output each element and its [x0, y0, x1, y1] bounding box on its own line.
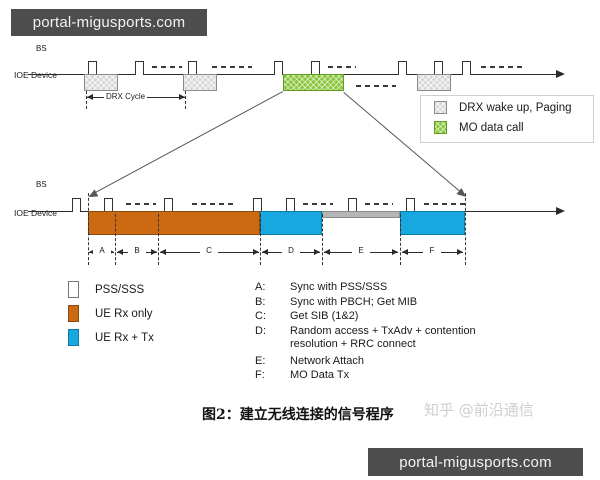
- drx-arrow-right: [179, 94, 185, 100]
- legend-label: DRX wake up, Paging: [459, 102, 572, 114]
- pulse: [462, 61, 471, 75]
- segment-label-a: A: [93, 246, 111, 255]
- pulse: [104, 198, 113, 212]
- swatch-drx-icon: [434, 101, 447, 114]
- dotted-run: [424, 203, 466, 205]
- swatch-pss-sss-icon: [68, 281, 79, 298]
- segment-arrow-right: [392, 249, 398, 255]
- watermark-bottom: portal-migusports.com: [368, 448, 583, 476]
- pulse: [434, 61, 443, 75]
- description-list: A: Sync with PSS/SSS B: Sync with PBCH; …: [255, 281, 515, 384]
- description-row-f: F: MO Data Tx: [255, 369, 515, 383]
- segment-label-f: F: [423, 246, 441, 255]
- bottom-device-label: IOE Device: [14, 208, 57, 218]
- segment-label-c: C: [200, 246, 218, 255]
- description-text: Random access + TxAdv + contention resol…: [290, 325, 515, 352]
- top-device-label: IOE Device: [14, 70, 57, 80]
- segment-divider: [158, 214, 159, 265]
- block-ue-rx-only: [88, 211, 260, 235]
- segment-arrow-left: [160, 249, 166, 255]
- description-text: Network Attach: [290, 355, 364, 369]
- legend-item-mo: MO data call: [434, 121, 524, 134]
- drx-arrow-left: [87, 94, 93, 100]
- pulse: [72, 198, 81, 212]
- pulse: [348, 198, 357, 212]
- bottom-axis-arrow: [556, 207, 565, 215]
- segment-label-b: B: [128, 246, 146, 255]
- description-row-b: B: Sync with PBCH; Get MIB: [255, 296, 515, 310]
- swatch-ue-rx-only-icon: [68, 305, 79, 322]
- block-drx-wake-up: [183, 74, 217, 91]
- block-ue-rx-tx: [400, 211, 465, 235]
- dotted-run: [212, 66, 252, 68]
- figure-caption: 图2：建立无线连接的信号程序: [202, 404, 394, 424]
- top-bs-label: BS: [36, 44, 47, 53]
- dotted-run: [303, 203, 333, 205]
- segment-label-e: E: [352, 246, 370, 255]
- pulse: [286, 198, 295, 212]
- pulse: [164, 198, 173, 212]
- segment-divider: [465, 193, 466, 265]
- swatch-ue-rx-tx-icon: [68, 329, 79, 346]
- segment-arrow-left: [262, 249, 268, 255]
- segment-arrow-right: [457, 249, 463, 255]
- pulse: [406, 198, 415, 212]
- legend-item-pss-sss: PSS/SSS: [68, 281, 144, 298]
- description-key: D:: [255, 325, 290, 337]
- segment-divider: [322, 214, 323, 265]
- segment-arrow-right: [314, 249, 320, 255]
- watermark-top: portal-migusports.com: [11, 9, 207, 36]
- diagram-canvas: portal-migusports.com BS IOE Device DRX …: [0, 0, 600, 480]
- description-row-a: A: Sync with PSS/SSS: [255, 281, 515, 295]
- segment-divider: [260, 214, 261, 265]
- segment-arrow-left: [117, 249, 123, 255]
- description-row-e: E: Network Attach: [255, 355, 515, 369]
- dotted-run: [152, 66, 182, 68]
- dotted-run: [126, 203, 156, 205]
- drx-tick-right: [185, 91, 186, 109]
- legend-item-drx: DRX wake up, Paging: [434, 101, 572, 114]
- block-drx-wake-up: [417, 74, 451, 91]
- description-row-d: D: Random access + TxAdv + contention re…: [255, 325, 515, 352]
- dotted-run: [192, 203, 234, 205]
- dotted-run: [481, 66, 523, 68]
- watermark-zhihu: 知乎 @前沿通信: [424, 399, 534, 420]
- pulse: [135, 61, 144, 75]
- description-text: Sync with PSS/SSS: [290, 281, 387, 295]
- description-text: Sync with PBCH; Get MIB: [290, 296, 417, 310]
- segment-label-d: D: [282, 246, 300, 255]
- segment-divider: [400, 214, 401, 265]
- block-drx-wake-up: [84, 74, 118, 91]
- legend-label: PSS/SSS: [95, 284, 144, 296]
- swatch-mo-icon: [434, 121, 447, 134]
- legend-label: MO data call: [459, 122, 524, 134]
- pulse: [188, 61, 197, 75]
- drx-cycle-label: DRX Cycle: [104, 92, 147, 101]
- segment-arrow-right: [151, 249, 157, 255]
- bottom-bs-label: BS: [36, 180, 47, 189]
- top-axis-arrow: [556, 70, 565, 78]
- legend-label: UE Rx only: [95, 308, 153, 320]
- dotted-run: [356, 85, 396, 87]
- pulse: [311, 61, 320, 75]
- segment-divider: [115, 214, 116, 265]
- block-mo-data-call: [283, 74, 344, 91]
- description-text: Get SIB (1&2): [290, 310, 358, 324]
- dotted-run: [328, 66, 356, 68]
- segment-arrow-left: [402, 249, 408, 255]
- description-key: C:: [255, 310, 290, 322]
- segment-arrow-left: [324, 249, 330, 255]
- pulse: [88, 61, 97, 75]
- legend-item-ue-rx-tx: UE Rx + Tx: [68, 329, 154, 346]
- block-ue-rx-tx: [260, 211, 322, 235]
- segment-arrow-right: [253, 249, 259, 255]
- description-text: MO Data Tx: [290, 369, 349, 383]
- legend-item-ue-rx-only: UE Rx only: [68, 305, 153, 322]
- dotted-run: [365, 203, 393, 205]
- block-idle-gray: [322, 211, 400, 218]
- description-key: B:: [255, 296, 290, 308]
- pulse: [398, 61, 407, 75]
- description-key: A:: [255, 281, 290, 293]
- pulse: [253, 198, 262, 212]
- description-row-c: C: Get SIB (1&2): [255, 310, 515, 324]
- description-key: F:: [255, 369, 290, 381]
- expansion-line-left: [89, 91, 283, 196]
- pulse: [274, 61, 283, 75]
- description-key: E:: [255, 355, 290, 367]
- legend-label: UE Rx + Tx: [95, 332, 154, 344]
